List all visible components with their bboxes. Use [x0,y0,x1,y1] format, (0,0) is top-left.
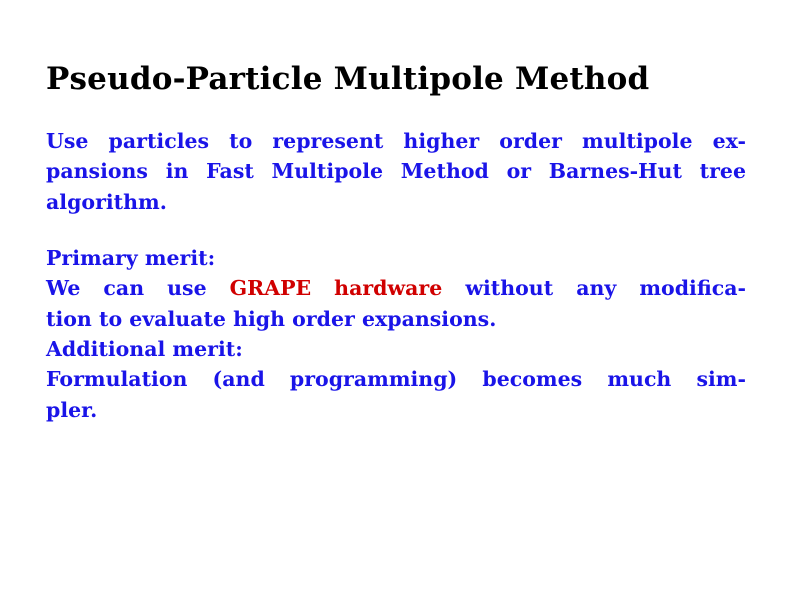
primary-merit-line-1: We can use GRAPE hardware without any mo… [46,273,746,303]
paragraph-overview-line-3: algorithm. [46,187,746,217]
grape-hardware-highlight: GRAPE hardware [230,276,443,300]
primary-merit-text-pre: We can use [46,276,230,300]
additional-merit-label: Additional merit: [46,334,746,364]
primary-merit-label: Primary merit: [46,243,746,273]
paragraph-overview-line-2: pansions in Fast Multipole Method or Bar… [46,156,746,186]
paragraph-overview: Use particles to represent higher order … [46,126,746,217]
paragraph-overview-line-1: Use particles to represent higher order … [46,126,746,156]
primary-merit-text-post: without any modifica- [442,276,746,300]
page-title: Pseudo-Particle Multipole Method [46,62,752,96]
additional-merit-line-1: Formulation (and programming) becomes mu… [46,364,746,394]
slide: Pseudo-Particle Multipole Method Use par… [0,0,800,600]
primary-merit-line-2: tion to evaluate high order expansions. [46,304,746,334]
additional-merit-line-2: pler. [46,395,746,425]
paragraph-merits: Primary merit: We can use GRAPE hardware… [46,243,746,425]
